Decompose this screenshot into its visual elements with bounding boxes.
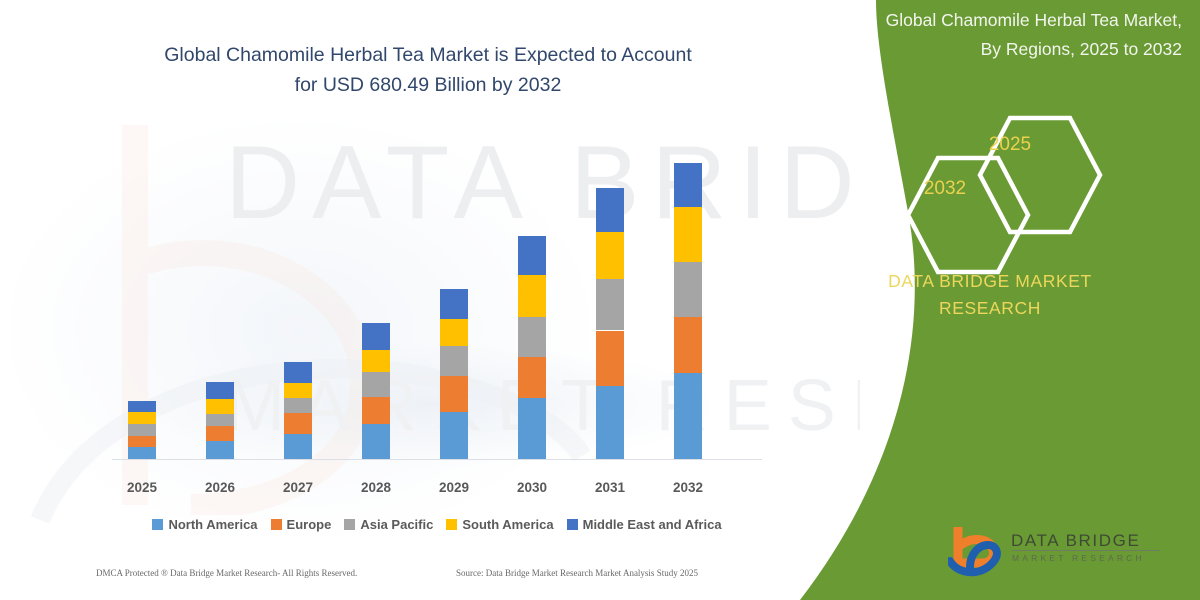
bar-segment-2031-middle-east-and-africa <box>596 188 624 231</box>
bar-segment-2032-north-america <box>674 373 702 459</box>
bar-segment-2028-middle-east-and-africa <box>362 323 390 351</box>
brand-name-line-2: RESEARCH <box>820 295 1160 322</box>
bar-segment-2029-europe <box>440 376 468 411</box>
bar-segment-2032-middle-east-and-africa <box>674 163 702 206</box>
legend-swatch-icon <box>271 519 282 530</box>
footer-source-text: Source: Data Bridge Market Research Mark… <box>456 568 698 578</box>
bar-segment-2029-south-america <box>440 319 468 346</box>
legend-item-middle-east-and-africa[interactable]: Middle East and Africa <box>567 517 722 532</box>
x-axis-label-2032: 2032 <box>648 480 728 495</box>
bar-segment-2027-europe <box>284 413 312 434</box>
x-axis-label-2027: 2027 <box>258 480 338 495</box>
x-axis-label-2029: 2029 <box>414 480 494 495</box>
x-axis-label-2028: 2028 <box>336 480 416 495</box>
bar-segment-2032-asia-pacific <box>674 262 702 317</box>
bar-segment-2027-north-america <box>284 434 312 459</box>
infographic-canvas: DATA BRIDGE MARKET RESEARCH Global Chamo… <box>0 0 1200 600</box>
logo-title: DATA BRIDGE <box>1011 531 1140 551</box>
x-axis-label-2025: 2025 <box>102 480 182 495</box>
bar-2027 <box>284 362 312 459</box>
bar-segment-2025-north-america <box>128 447 156 459</box>
bar-2031 <box>596 188 624 459</box>
x-axis-label-2026: 2026 <box>180 480 260 495</box>
bar-segment-2032-south-america <box>674 207 702 262</box>
bar-segment-2029-asia-pacific <box>440 346 468 376</box>
footer-dmca-text: DMCA Protected ® Data Bridge Market Rese… <box>96 568 357 578</box>
chart-legend: North AmericaEuropeAsia PacificSouth Ame… <box>112 514 762 534</box>
bar-segment-2025-europe <box>128 436 156 448</box>
legend-item-europe[interactable]: Europe <box>271 517 332 532</box>
logo-divider <box>1012 550 1160 551</box>
brand-name: DATA BRIDGE MARKET RESEARCH <box>820 268 1160 322</box>
bar-segment-2026-south-america <box>206 399 234 414</box>
bar-segment-2026-asia-pacific <box>206 414 234 426</box>
bar-segment-2025-asia-pacific <box>128 424 156 436</box>
bar-segment-2028-north-america <box>362 424 390 459</box>
bar-segment-2031-north-america <box>596 386 624 459</box>
bar-segment-2031-asia-pacific <box>596 279 624 330</box>
legend-swatch-icon <box>446 519 457 530</box>
legend-label: Middle East and Africa <box>583 517 722 532</box>
legend-label: South America <box>462 517 553 532</box>
bar-segment-2027-middle-east-and-africa <box>284 362 312 383</box>
bar-segment-2031-south-america <box>596 232 624 279</box>
bar-segment-2029-middle-east-and-africa <box>440 289 468 319</box>
x-axis-label-2031: 2031 <box>570 480 650 495</box>
bar-segment-2027-south-america <box>284 383 312 398</box>
bar-2026 <box>206 382 234 459</box>
bar-segment-2030-asia-pacific <box>518 317 546 357</box>
bar-segment-2027-asia-pacific <box>284 398 312 413</box>
hex-badge-label-2032: 2032 <box>900 178 990 200</box>
legend-label: Asia Pacific <box>360 517 433 532</box>
bar-segment-2026-north-america <box>206 441 234 459</box>
company-logo[interactable]: DATA BRIDGE MARKET RESEARCH <box>948 525 1178 583</box>
bar-segment-2030-middle-east-and-africa <box>518 236 546 276</box>
bar-2025 <box>128 401 156 459</box>
bar-segment-2026-europe <box>206 426 234 441</box>
hex-badge-label-2025: 2025 <box>965 134 1055 156</box>
bar-segment-2030-north-america <box>518 398 546 459</box>
legend-label: North America <box>168 517 257 532</box>
bar-segment-2031-europe <box>596 331 624 386</box>
legend-item-north-america[interactable]: North America <box>152 517 257 532</box>
bar-segment-2028-europe <box>362 397 390 425</box>
bar-segment-2032-europe <box>674 317 702 372</box>
data-bridge-logo-mark-icon <box>948 527 1008 579</box>
x-axis-line <box>112 459 762 460</box>
footer: DMCA Protected ® Data Bridge Market Rese… <box>0 568 800 588</box>
bar-segment-2028-south-america <box>362 350 390 372</box>
legend-swatch-icon <box>152 519 163 530</box>
brand-panel: Global Chamomile Herbal Tea Market, By R… <box>780 0 1200 600</box>
legend-swatch-icon <box>344 519 355 530</box>
bar-segment-2025-south-america <box>128 412 156 424</box>
legend-item-asia-pacific[interactable]: Asia Pacific <box>344 517 433 532</box>
legend-item-south-america[interactable]: South America <box>446 517 553 532</box>
x-axis-label-2030: 2030 <box>492 480 572 495</box>
legend-swatch-icon <box>567 519 578 530</box>
logo-subtitle: MARKET RESEARCH <box>1012 553 1145 563</box>
bar-segment-2030-south-america <box>518 275 546 317</box>
bar-segment-2029-north-america <box>440 412 468 459</box>
bar-2032 <box>674 163 702 459</box>
stacked-bar-chart: 20252026202720282029203020312032 <box>0 0 860 600</box>
brand-name-line-1: DATA BRIDGE MARKET <box>820 268 1160 295</box>
legend-label: Europe <box>287 517 332 532</box>
bar-segment-2028-asia-pacific <box>362 372 390 397</box>
bar-2030 <box>518 236 546 459</box>
bar-segment-2025-middle-east-and-africa <box>128 401 156 413</box>
bar-segment-2030-europe <box>518 357 546 399</box>
bar-segment-2026-middle-east-and-africa <box>206 382 234 400</box>
bar-2029 <box>440 289 468 459</box>
bar-2028 <box>362 323 390 459</box>
